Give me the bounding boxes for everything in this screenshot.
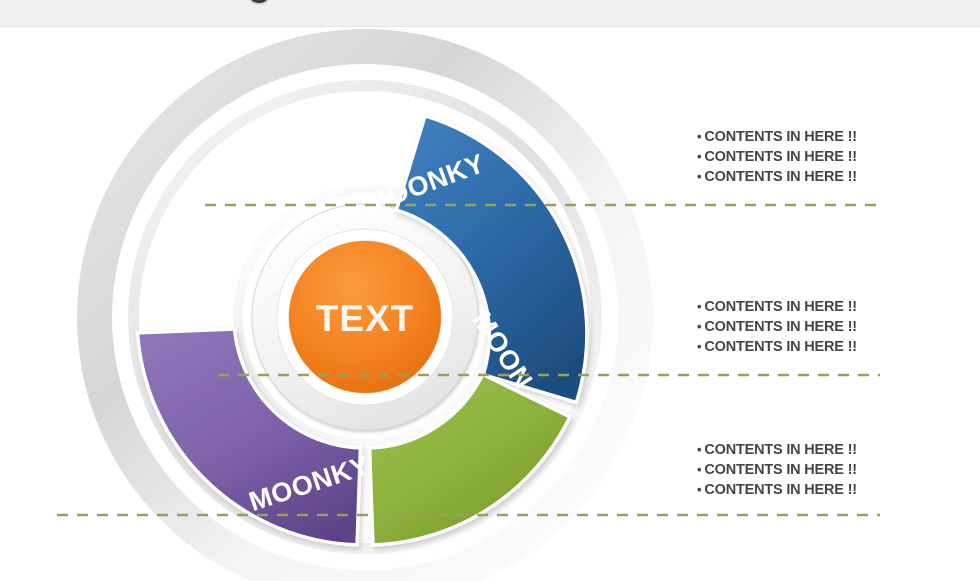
center-hub[interactable]: TEXT (289, 241, 441, 393)
top-chrome-bar (0, 0, 980, 27)
bullet-line: •CONTENTS IN HERE !! (697, 147, 957, 167)
bullet-line: •CONTENTS IN HERE !! (697, 167, 957, 187)
bullet-line: •CONTENTS IN HERE !! (697, 297, 957, 317)
bullet-text: CONTENTS IN HERE !! (704, 299, 856, 315)
bullet-line: •CONTENTS IN HERE !! (697, 480, 957, 500)
bullet-line: •CONTENTS IN HERE !! (697, 317, 957, 337)
bullet-text: CONTENTS IN HERE !! (704, 462, 856, 478)
content-block-2: •CONTENTS IN HERE !! •CONTENTS IN HERE !… (697, 297, 957, 357)
bullet-text: CONTENTS IN HERE !! (704, 169, 856, 185)
partial-toolbar-icon (250, 0, 268, 3)
content-block-3: •CONTENTS IN HERE !! •CONTENTS IN HERE !… (697, 440, 957, 500)
bullet-text: CONTENTS IN HERE !! (704, 442, 856, 458)
bullet-text: CONTENTS IN HERE !! (704, 339, 856, 355)
bullet-text: CONTENTS IN HERE !! (704, 149, 856, 165)
bullet-line: •CONTENTS IN HERE !! (697, 127, 957, 147)
content-block-1: •CONTENTS IN HERE !! •CONTENTS IN HERE !… (697, 127, 957, 187)
bullet-line: •CONTENTS IN HERE !! (697, 460, 957, 480)
bullet-text: CONTENTS IN HERE !! (704, 482, 856, 498)
center-text: TEXT (316, 298, 415, 339)
bullet-text: CONTENTS IN HERE !! (704, 129, 856, 145)
slide-canvas: MOONKY MOON MOONKY TEXT (0, 0, 980, 581)
bullet-text: CONTENTS IN HERE !! (704, 319, 856, 335)
bullet-line: •CONTENTS IN HERE !! (697, 337, 957, 357)
bullet-line: •CONTENTS IN HERE !! (697, 440, 957, 460)
